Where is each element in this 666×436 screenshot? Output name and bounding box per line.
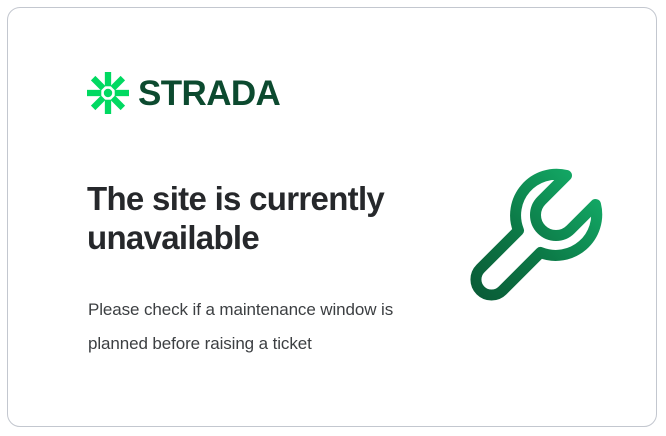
brand-wordmark: STRADA: [138, 76, 280, 111]
error-page: STRADA The site is currently unavailable…: [0, 0, 666, 436]
strada-asterisk-icon: [87, 72, 129, 114]
page-title: The site is currently unavailable: [87, 180, 427, 257]
page-description: Please check if a maintenance window is …: [88, 293, 398, 361]
wrench-icon: [460, 158, 620, 318]
brand-logo: STRADA: [87, 72, 280, 114]
status-card: STRADA The site is currently unavailable…: [7, 7, 657, 427]
